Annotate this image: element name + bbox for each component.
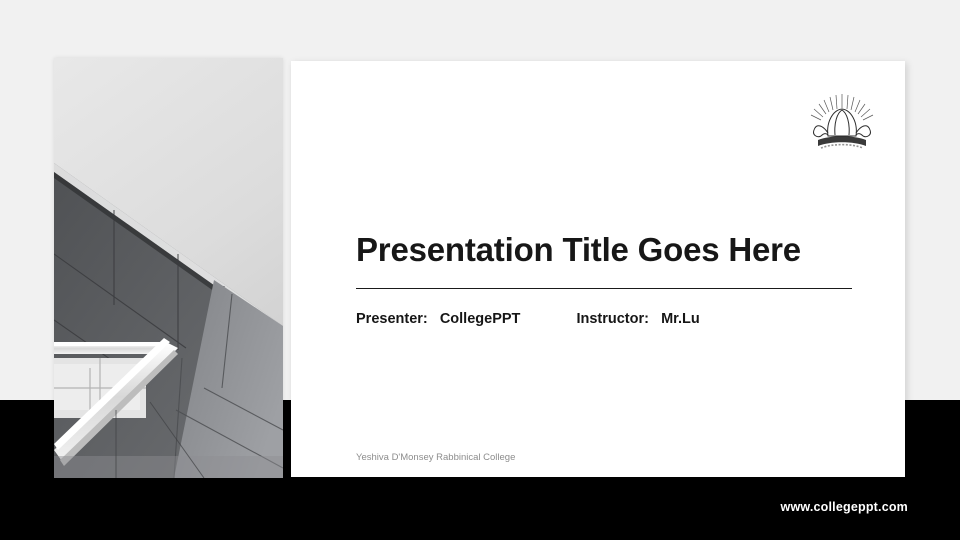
radiating-rays-icon [811, 94, 873, 120]
instructor-label: Instructor: [576, 311, 649, 327]
title-divider [356, 288, 852, 289]
instructor-name: Mr.Lu [661, 311, 700, 327]
slide-meta-line: Presenter: CollegePPT Instructor: Mr.Lu [356, 311, 700, 327]
crown-icon [814, 109, 871, 137]
presenter-label: Presenter: [356, 311, 428, 327]
slide-title: Presentation Title Goes Here [356, 231, 856, 269]
slide-preview-canvas: www.collegeppt.com [0, 0, 960, 540]
organization-footnote: Yeshiva D'Monsey Rabbinical College [356, 452, 515, 463]
crown-emblem-graphic [802, 88, 882, 160]
architecture-photo-graphic [54, 58, 283, 478]
hebrew-banner [818, 136, 866, 148]
architecture-photo [54, 58, 283, 478]
website-url: www.collegeppt.com [781, 500, 908, 514]
crown-emblem-logo [802, 88, 882, 160]
presenter-name: CollegePPT [440, 311, 521, 327]
